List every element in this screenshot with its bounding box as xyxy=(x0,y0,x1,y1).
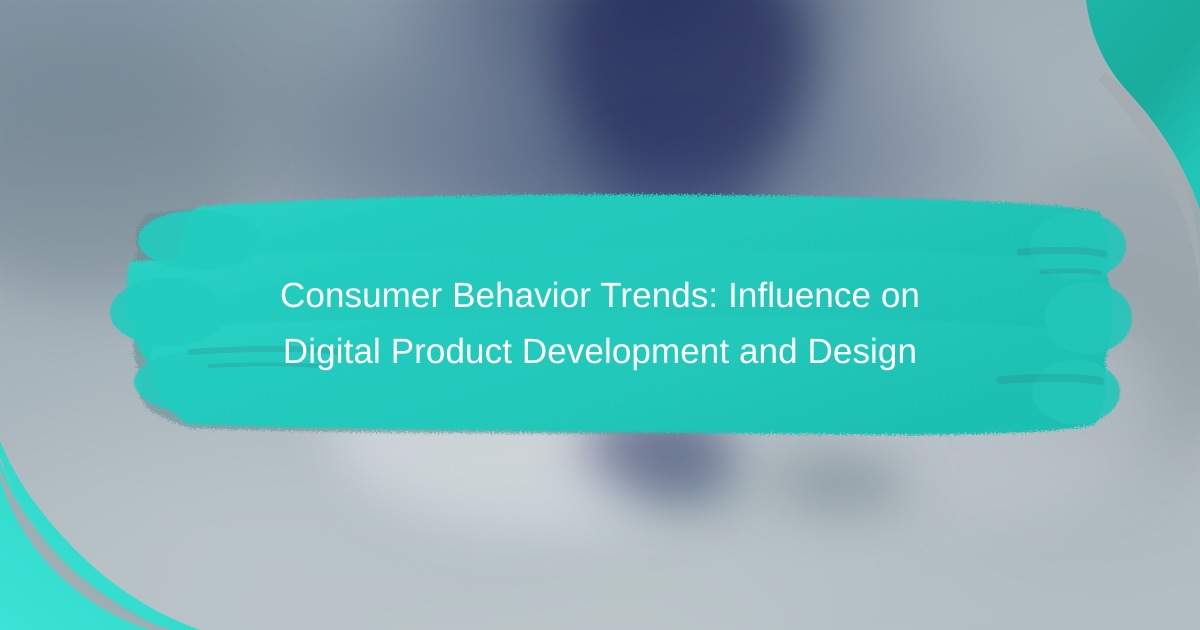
page-title-line-1: Consumer Behavior Trends: Influence on xyxy=(160,268,1040,324)
page-title-line-2: Digital Product Development and Design xyxy=(160,324,1040,380)
share-card-canvas: Consumer Behavior Trends: Influence on D… xyxy=(0,0,1200,630)
page-title: Consumer Behavior Trends: Influence on D… xyxy=(160,268,1040,380)
